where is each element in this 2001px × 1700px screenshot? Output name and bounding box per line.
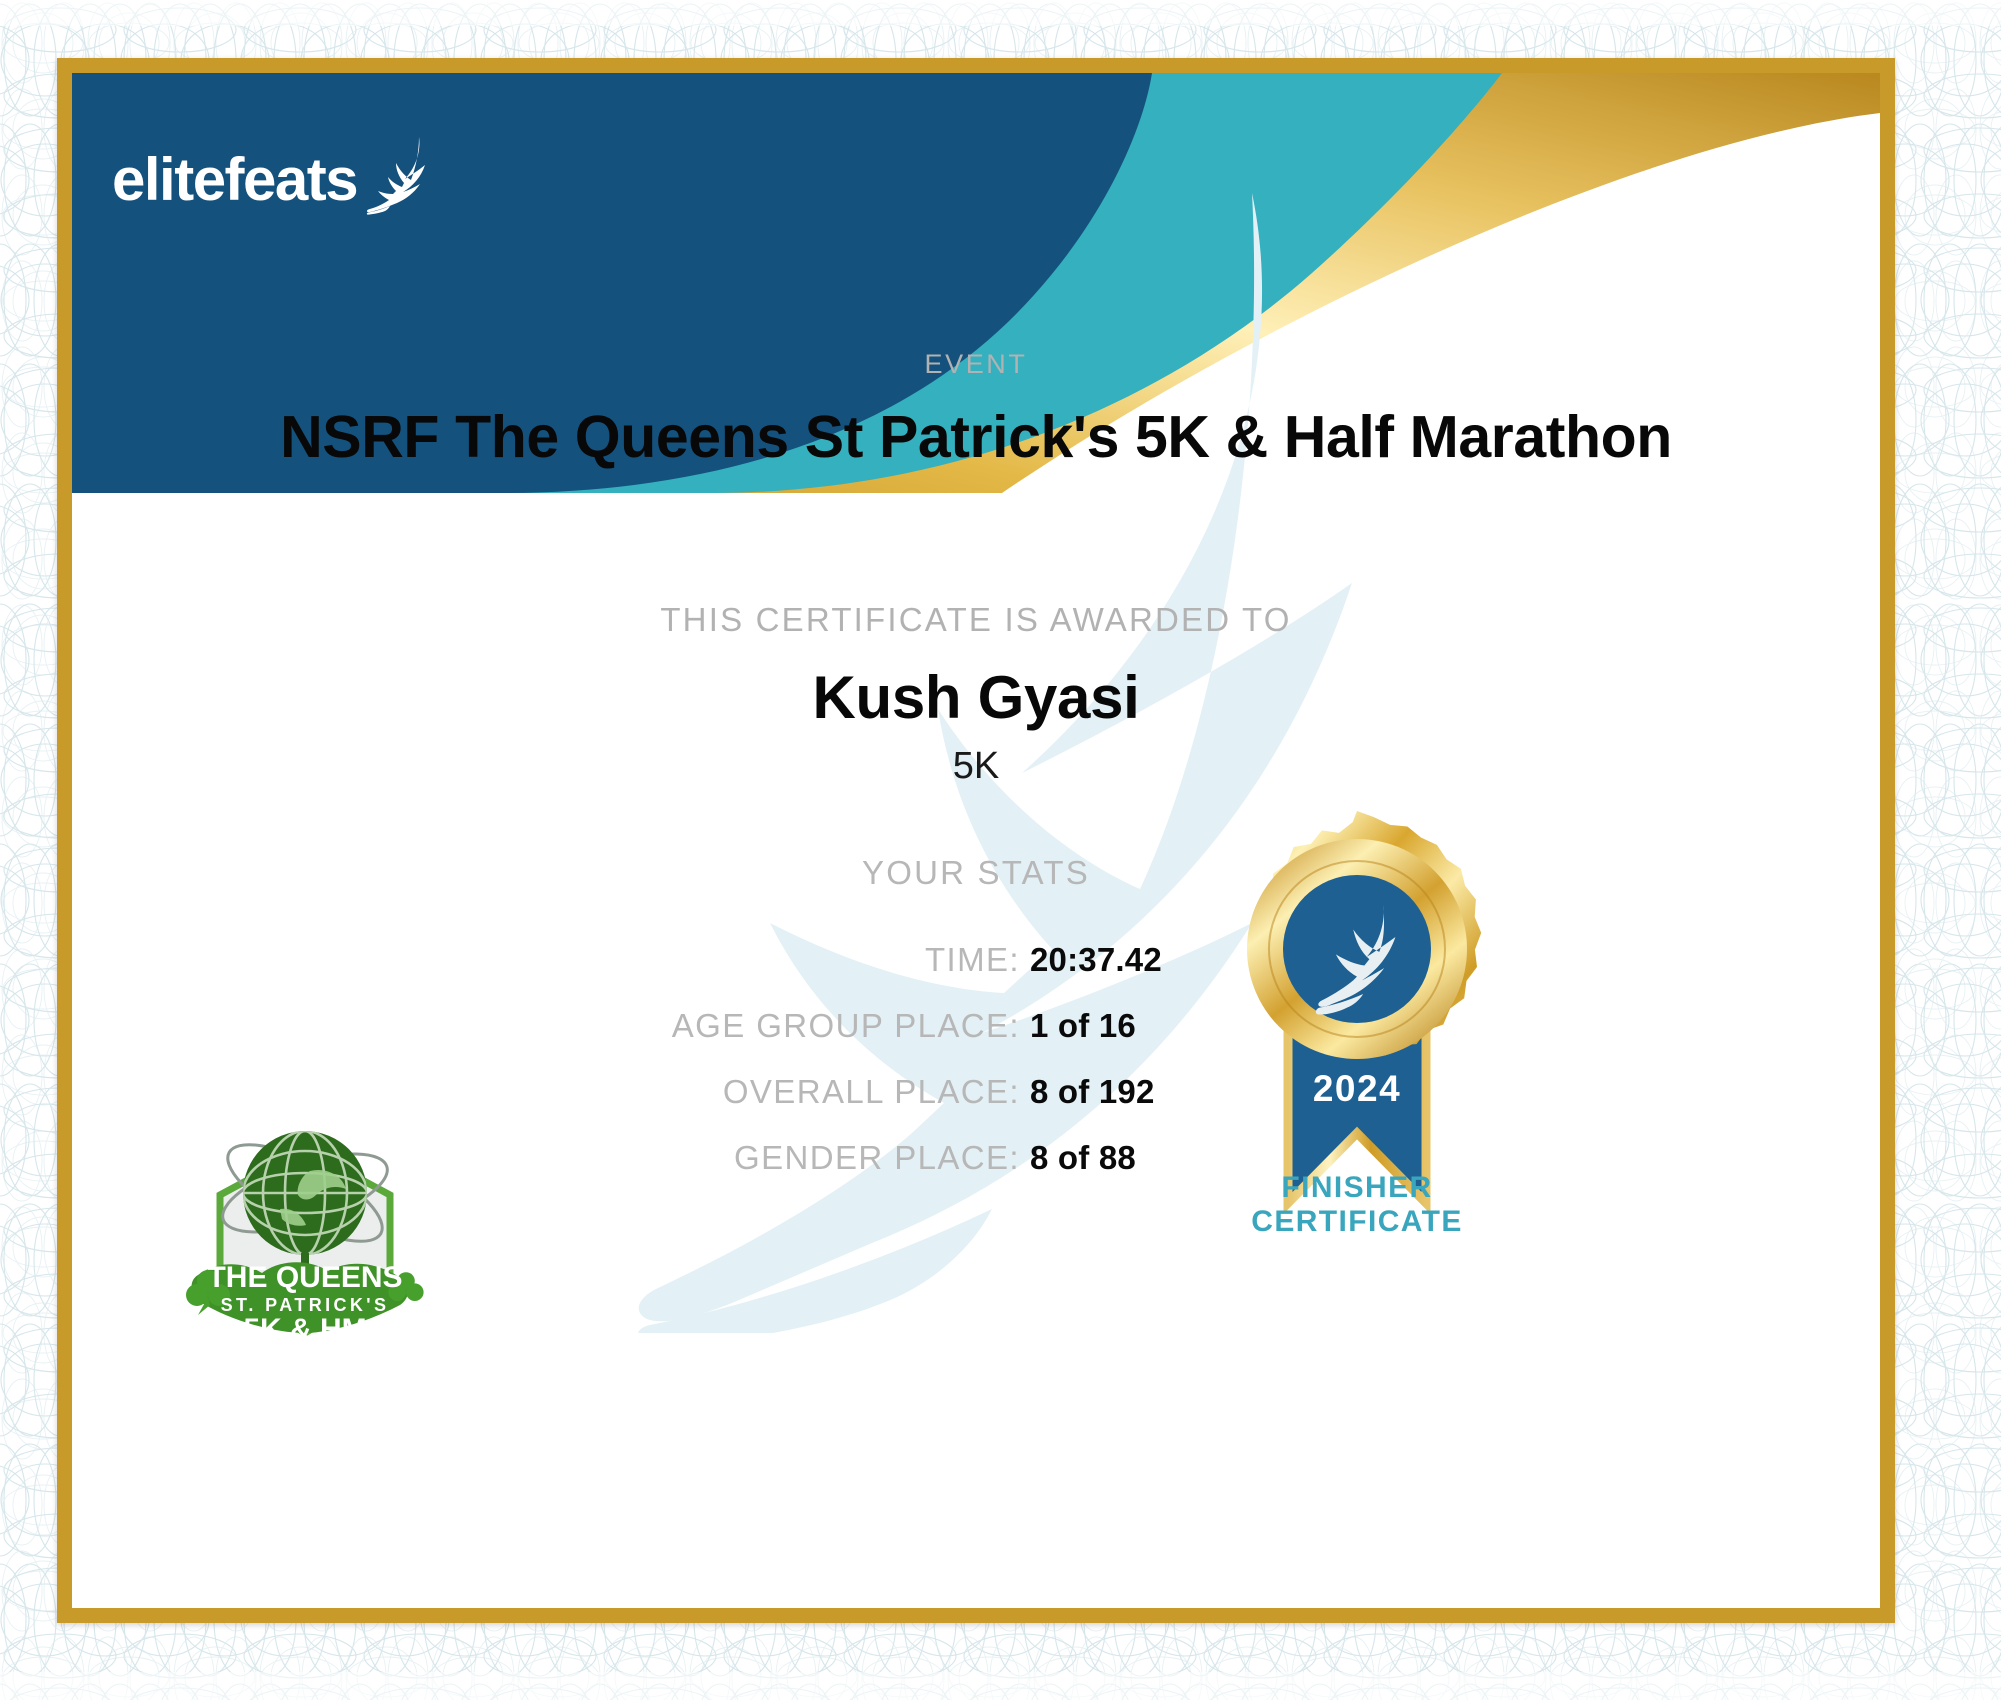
medal-year: 2024	[1313, 1068, 1401, 1109]
stat-value: 8 of 88	[1030, 1139, 1136, 1177]
event-title: NSRF The Queens St Patrick's 5K & Half M…	[72, 403, 1880, 471]
race-logo-line3: 5K & HM	[243, 1313, 366, 1346]
certificate-page: elitefeats EVENT NSRF The Queens	[0, 0, 2001, 1700]
recipient-name: Kush Gyasi	[72, 663, 1880, 732]
race-logo-line1: THE QUEENS	[207, 1261, 402, 1294]
stat-row-age-group-place: AGE GROUP PLACE: 1 of 16	[72, 1007, 1880, 1073]
finisher-caption-line2: CERTIFICATE	[1162, 1205, 1552, 1239]
stat-label: TIME:	[72, 941, 1020, 979]
stat-row-time: TIME: 20:37.42	[72, 941, 1880, 1007]
stat-value: 20:37.42	[1030, 941, 1162, 979]
event-label: EVENT	[72, 349, 1880, 380]
race-logo-line2: ST. PATRICK'S	[221, 1295, 390, 1315]
stat-value: 1 of 16	[1030, 1007, 1136, 1045]
race-distance: 5K	[72, 745, 1880, 788]
stat-label: AGE GROUP PLACE:	[72, 1007, 1020, 1045]
finisher-caption: FINISHER CERTIFICATE	[1162, 1171, 1552, 1238]
awarded-to-label: THIS CERTIFICATE IS AWARDED TO	[72, 601, 1880, 639]
finisher-caption-line1: FINISHER	[1162, 1171, 1552, 1205]
race-event-logo: THE QUEENS ST. PATRICK'S 5K & HM	[160, 1083, 450, 1373]
your-stats-label: YOUR STATS	[72, 854, 1880, 892]
stat-value: 8 of 192	[1030, 1073, 1155, 1111]
certificate-content: EVENT NSRF The Queens St Patrick's 5K & …	[72, 73, 1880, 1608]
certificate-border: elitefeats EVENT NSRF The Queens	[57, 58, 1895, 1623]
